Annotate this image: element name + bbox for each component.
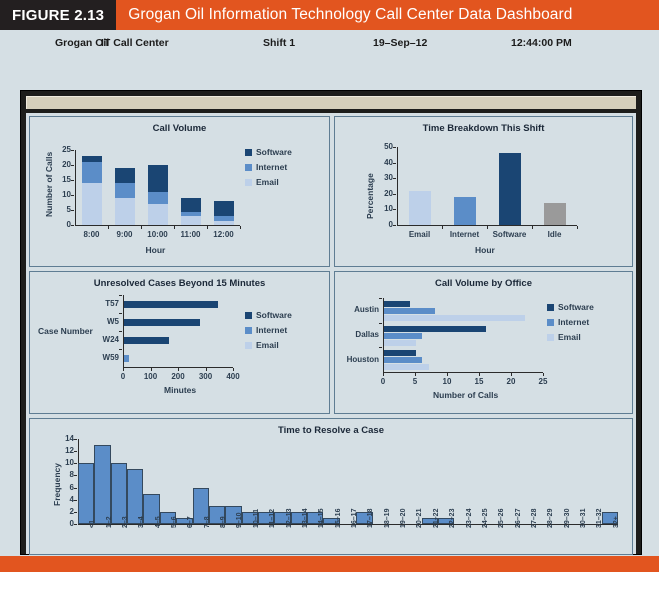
legend-label-software: Software	[256, 310, 292, 320]
legend-item-email: Email	[245, 177, 292, 187]
footer-accent-bar	[0, 556, 659, 572]
bar-software	[181, 198, 201, 212]
x-tick	[174, 226, 175, 229]
hist-bar	[111, 463, 127, 524]
x-tick-label: 10	[435, 377, 459, 386]
y-tick-label: 10	[377, 204, 393, 213]
bar-t57	[124, 301, 218, 308]
x-tick-label: 22–23	[449, 509, 456, 528]
y-tick	[71, 180, 74, 181]
x-tick	[141, 226, 142, 229]
hist-bar	[78, 463, 94, 524]
y-tick	[71, 195, 74, 196]
x-tick	[447, 373, 448, 376]
bar-internet	[115, 183, 135, 198]
bar-austin-email	[384, 315, 525, 321]
x-tick	[233, 368, 234, 371]
y-tick	[74, 524, 77, 525]
legend-item-software: Software	[547, 302, 594, 312]
x-axis	[383, 372, 543, 373]
legend-label-internet: Internet	[558, 317, 589, 327]
legend-item-software: Software	[245, 310, 292, 320]
y-tick-label: W5	[97, 317, 119, 326]
legend-call-volume-by-office: Software Internet Email	[547, 302, 594, 347]
legend-swatch-email-icon	[547, 334, 554, 341]
x-tick	[577, 226, 578, 229]
y-tick-label: W24	[97, 335, 119, 344]
y-tick-label: 20	[377, 189, 393, 198]
x-tick-label: Internet	[443, 230, 487, 239]
legend-label-email: Email	[256, 177, 279, 187]
y-tick-label: 20	[55, 160, 71, 169]
panel-call-volume-by-office[interactable]: Call Volume by Office 0510152025HoustonD…	[334, 271, 633, 414]
y-axis	[75, 150, 76, 225]
chart-row-top: Call Volume 05101520258:009:0010:0011:00…	[29, 116, 633, 267]
x-tick-label: 200	[166, 372, 190, 381]
bar-houston-software	[384, 350, 416, 356]
y-tick	[74, 463, 77, 464]
x-tick-label: 29–30	[564, 509, 571, 528]
y-tick	[74, 488, 77, 489]
x-tick-label: Idle	[533, 230, 577, 239]
x-tick-label: 27–28	[531, 509, 538, 528]
bar-email	[409, 191, 431, 225]
legend-item-internet: Internet	[245, 162, 292, 172]
y-tick-label: T57	[97, 299, 119, 308]
legend-swatch-email-icon	[245, 179, 252, 186]
x-axis-label: Minutes	[164, 385, 196, 395]
y-axis-label: Case Number	[38, 326, 93, 336]
y-tick	[379, 323, 382, 324]
chart-title-call-volume: Call Volume	[30, 123, 329, 134]
figure-header: FIGURE 2.13 Grogan Oil Information Techn…	[0, 0, 659, 30]
y-tick-label: Dallas	[341, 330, 379, 339]
x-tick-label: 9:00	[109, 230, 141, 239]
x-tick-label: 400	[221, 372, 245, 381]
y-tick	[393, 178, 396, 179]
bar-dallas-internet	[384, 333, 422, 339]
x-tick	[240, 226, 241, 229]
bar-software	[214, 201, 234, 216]
x-tick	[532, 226, 533, 229]
y-tick-label: 25	[55, 145, 71, 154]
bar-internet	[214, 216, 234, 221]
chart-row-middle: Unresolved Cases Beyond 15 Minutes 01002…	[29, 271, 633, 414]
x-tick	[479, 373, 480, 376]
y-tick	[393, 147, 396, 148]
x-tick	[206, 368, 207, 371]
bar-email	[82, 183, 102, 225]
legend-swatch-software-icon	[245, 312, 252, 319]
panel-time-breakdown[interactable]: Time Breakdown This Shift 01020304050Ema…	[334, 116, 633, 267]
bar-internet	[148, 192, 168, 204]
figure-tag: FIGURE 2.13	[0, 0, 116, 30]
legend-label-software: Software	[256, 147, 292, 157]
bar-internet	[454, 197, 476, 225]
info-time: 12:44:00 PM	[511, 37, 572, 49]
hist-bar	[94, 445, 110, 524]
x-tick-label: 0	[111, 372, 135, 381]
y-tick	[74, 451, 77, 452]
x-tick-label: 100	[139, 372, 163, 381]
x-tick-label: 17–18	[367, 509, 374, 528]
bar-houston-internet	[384, 357, 422, 363]
y-tick	[71, 210, 74, 211]
x-axis-label: Hour	[475, 245, 495, 255]
y-tick	[74, 475, 77, 476]
y-tick	[119, 331, 122, 332]
legend-swatch-email-icon	[245, 342, 252, 349]
x-tick-label: 25–26	[498, 509, 505, 528]
x-tick	[151, 368, 152, 371]
x-tick-label: 32+	[613, 516, 620, 528]
x-tick-label: 15	[467, 377, 491, 386]
chart-title-time-to-resolve: Time to Resolve a Case	[30, 425, 632, 436]
x-tick	[511, 373, 512, 376]
bar-email	[148, 204, 168, 225]
legend-label-internet: Internet	[256, 162, 287, 172]
y-axis	[397, 147, 398, 225]
x-tick-label: 30–31	[580, 509, 587, 528]
y-tick-label: 0	[58, 519, 74, 528]
x-axis-label: Number of Calls	[433, 390, 498, 400]
legend-label-software: Software	[558, 302, 594, 312]
bar-houston-email	[384, 364, 429, 370]
x-axis	[75, 225, 240, 226]
legend-call-volume: Software Internet Email	[245, 147, 292, 192]
y-tick	[393, 163, 396, 164]
panel-time-to-resolve[interactable]: Time to Resolve a Case 02468101214<11–22…	[29, 418, 633, 555]
x-tick-label: 12:00	[208, 230, 240, 239]
bar-internet	[181, 212, 201, 217]
bar-w59	[124, 355, 129, 362]
legend-swatch-software-icon	[245, 149, 252, 156]
x-tick-label: 25	[531, 377, 555, 386]
x-tick	[108, 226, 109, 229]
y-tick-label: 10	[55, 190, 71, 199]
x-tick-label: 18–19	[384, 509, 391, 528]
y-tick-label: 2	[58, 507, 74, 516]
dashboard-info-bar: Grogan Oil IT Call Center Shift 1 19–Sep…	[11, 30, 648, 56]
y-tick	[74, 512, 77, 513]
y-tick-label: 0	[377, 220, 393, 229]
chart-title-time-breakdown: Time Breakdown This Shift	[335, 123, 632, 134]
x-tick-label: 10:00	[142, 230, 174, 239]
x-tick-label: 11:00	[175, 230, 207, 239]
x-tick-label: 28–29	[547, 509, 554, 528]
y-tick	[74, 439, 77, 440]
y-tick	[379, 298, 382, 299]
bar-w24	[124, 337, 169, 344]
y-tick-label: 12	[58, 446, 74, 455]
bar-email	[214, 221, 234, 226]
chart-row-bottom: Time to Resolve a Case 02468101214<11–22…	[29, 418, 633, 555]
y-tick-label: 40	[377, 158, 393, 167]
y-axis-label: Number of Calls	[44, 152, 54, 217]
info-department: IT Call Center	[101, 37, 169, 49]
figure-title: Grogan Oil Information Technology Call C…	[116, 0, 659, 30]
x-tick-label: 300	[194, 372, 218, 381]
y-tick-label: Austin	[341, 305, 379, 314]
x-tick-label: 15–16	[335, 509, 342, 528]
legend-swatch-internet-icon	[547, 319, 554, 326]
x-tick	[543, 373, 544, 376]
legend-swatch-software-icon	[547, 304, 554, 311]
x-tick-label: 20	[499, 377, 523, 386]
bar-austin-software	[384, 301, 410, 307]
legend-item-internet: Internet	[547, 317, 594, 327]
dashboard-window: Call Volume 05101520258:009:0010:0011:00…	[20, 90, 642, 555]
dashboard-page: Grogan Oil IT Call Center Shift 1 19–Sep…	[0, 30, 659, 572]
bar-email	[181, 216, 201, 225]
x-tick-label: Email	[398, 230, 442, 239]
x-tick	[383, 373, 384, 376]
y-tick-label: 30	[377, 173, 393, 182]
y-tick	[71, 225, 74, 226]
x-tick	[207, 226, 208, 229]
legend-item-email: Email	[245, 340, 292, 350]
panel-unresolved-cases[interactable]: Unresolved Cases Beyond 15 Minutes 01002…	[29, 271, 330, 414]
bar-software	[499, 153, 521, 225]
x-tick-label: 8:00	[76, 230, 108, 239]
panel-call-volume[interactable]: Call Volume 05101520258:009:0010:0011:00…	[29, 116, 330, 267]
legend-item-software: Software	[245, 147, 292, 157]
legend-item-internet: Internet	[245, 325, 292, 335]
y-tick	[393, 209, 396, 210]
y-tick	[74, 500, 77, 501]
x-tick-label: Software	[488, 230, 532, 239]
bar-austin-internet	[384, 308, 435, 314]
legend-swatch-internet-icon	[245, 164, 252, 171]
bar-software	[148, 165, 168, 192]
window-toolbar[interactable]	[26, 96, 636, 109]
y-axis-label: Percentage	[365, 173, 375, 219]
dashboard-canvas: Call Volume 05101520258:009:0010:0011:00…	[26, 113, 636, 554]
x-tick-label: 5	[403, 377, 427, 386]
y-tick-label: Houston	[341, 355, 379, 364]
bar-w5	[124, 319, 200, 326]
legend-item-email: Email	[547, 332, 594, 342]
legend-label-email: Email	[558, 332, 581, 342]
x-tick-label: 0	[371, 377, 395, 386]
y-tick	[71, 165, 74, 166]
y-tick	[71, 150, 74, 151]
legend-label-email: Email	[256, 340, 279, 350]
legend-swatch-internet-icon	[245, 327, 252, 334]
y-tick-label: 14	[58, 434, 74, 443]
y-tick-label: 15	[55, 175, 71, 184]
y-tick-label: 5	[55, 205, 71, 214]
y-tick-label: W59	[97, 353, 119, 362]
y-tick	[119, 313, 122, 314]
info-date: 19–Sep–12	[373, 37, 427, 49]
bar-software	[82, 156, 102, 162]
chart-title-call-volume-by-office: Call Volume by Office	[335, 278, 632, 289]
y-tick	[393, 225, 396, 226]
y-tick-label: 50	[377, 142, 393, 151]
y-tick	[379, 347, 382, 348]
y-axis-label: Frequency	[52, 463, 62, 506]
bar-idle	[544, 203, 566, 225]
chart-title-unresolved-cases: Unresolved Cases Beyond 15 Minutes	[30, 278, 329, 289]
legend-label-internet: Internet	[256, 325, 287, 335]
y-tick	[393, 194, 396, 195]
x-tick	[178, 368, 179, 371]
bar-internet	[82, 162, 102, 183]
x-axis-label: Hour	[146, 245, 166, 255]
x-tick-label: 24–25	[482, 509, 489, 528]
x-tick	[487, 226, 488, 229]
bar-software	[115, 168, 135, 183]
legend-unresolved-cases: Software Internet Email	[245, 310, 292, 355]
bar-dallas-software	[384, 326, 486, 332]
y-tick-label: 0	[55, 220, 71, 229]
x-tick	[442, 226, 443, 229]
x-tick-label: 19–20	[400, 509, 407, 528]
x-tick	[123, 368, 124, 371]
y-tick	[119, 295, 122, 296]
bar-dallas-email	[384, 340, 416, 346]
y-tick	[119, 349, 122, 350]
x-tick-label: 26–27	[515, 509, 522, 528]
x-tick-label: 23–24	[466, 509, 473, 528]
info-shift: Shift 1	[263, 37, 295, 49]
x-tick	[415, 373, 416, 376]
bar-email	[115, 198, 135, 225]
